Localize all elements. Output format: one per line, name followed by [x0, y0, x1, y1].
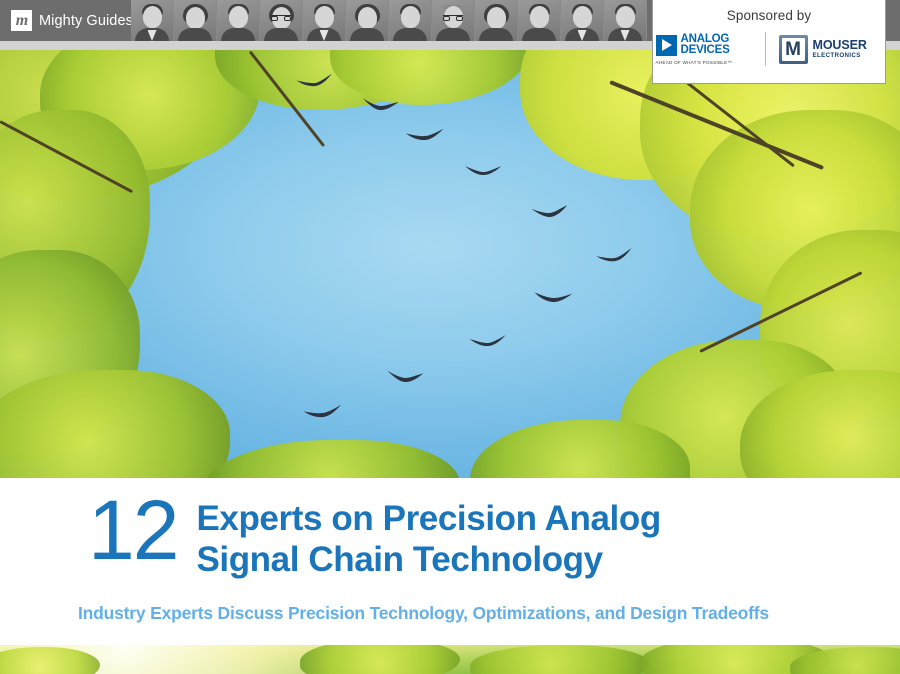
expert-avatar-strip	[131, 0, 647, 41]
sponsor-panel: Sponsored by ANALOG DEVICES AHEAD OF WHA…	[652, 0, 886, 84]
mouser-word1: MOUSER	[813, 39, 867, 52]
avatar[interactable]	[389, 0, 432, 41]
bird-silhouette	[404, 127, 445, 146]
expert-count-number: 12	[88, 492, 177, 569]
avatar[interactable]	[303, 0, 346, 41]
brand-name-label: Mighty Guides	[39, 13, 133, 29]
sponsored-by-label: Sponsored by	[727, 8, 812, 23]
avatar[interactable]	[475, 0, 518, 41]
sponsor-divider	[765, 32, 766, 66]
sponsor-logos: ANALOG DEVICES AHEAD OF WHAT'S POSSIBLE™…	[656, 32, 883, 66]
avatar[interactable]	[518, 0, 561, 41]
page-subtitle: Industry Experts Discuss Precision Techn…	[78, 603, 769, 624]
avatar[interactable]	[174, 0, 217, 41]
avatar[interactable]	[561, 0, 604, 41]
bird-silhouette	[532, 288, 573, 307]
analog-devices-logo[interactable]: ANALOG DEVICES AHEAD OF WHAT'S POSSIBLE™	[656, 34, 752, 65]
title-row: 12 Experts on Precision Analog Signal Ch…	[88, 492, 661, 581]
foliage-bottom-left	[0, 370, 230, 478]
brand-logo[interactable]: m Mighty Guides	[0, 0, 131, 41]
footer-leaf-2	[300, 645, 460, 674]
avatar[interactable]	[260, 0, 303, 41]
mouser-m-icon: M	[779, 35, 808, 64]
ebook-cover-page: m Mighty Guides Sponsored by	[0, 0, 900, 674]
page-title: Experts on Precision Analog Signal Chain…	[196, 498, 660, 581]
avatar[interactable]	[217, 0, 260, 41]
avatar[interactable]	[432, 0, 475, 41]
title-panel: 12 Experts on Precision Analog Signal Ch…	[0, 478, 900, 645]
play-triangle-icon	[656, 35, 677, 56]
analog-devices-tagline: AHEAD OF WHAT'S POSSIBLE™	[656, 60, 733, 65]
mouser-mark-letter: M	[782, 38, 805, 61]
analog-devices-word2: DEVICES	[681, 45, 730, 57]
mighty-guides-mark-icon: m	[11, 10, 32, 31]
avatar[interactable]	[346, 0, 389, 41]
title-line-1: Experts on Precision Analog	[196, 498, 660, 539]
avatar[interactable]	[604, 0, 647, 41]
mouser-electronics-logo[interactable]: M MOUSER ELECTRONICS	[779, 35, 883, 64]
bird-silhouette	[384, 369, 425, 388]
title-line-2: Signal Chain Technology	[196, 539, 660, 580]
mouser-word2: ELECTRONICS	[813, 53, 867, 59]
bird-silhouette	[463, 163, 504, 181]
bird-silhouette	[468, 334, 509, 352]
footer-image-strip	[0, 645, 900, 674]
avatar[interactable]	[131, 0, 174, 41]
hero-image	[0, 50, 900, 478]
